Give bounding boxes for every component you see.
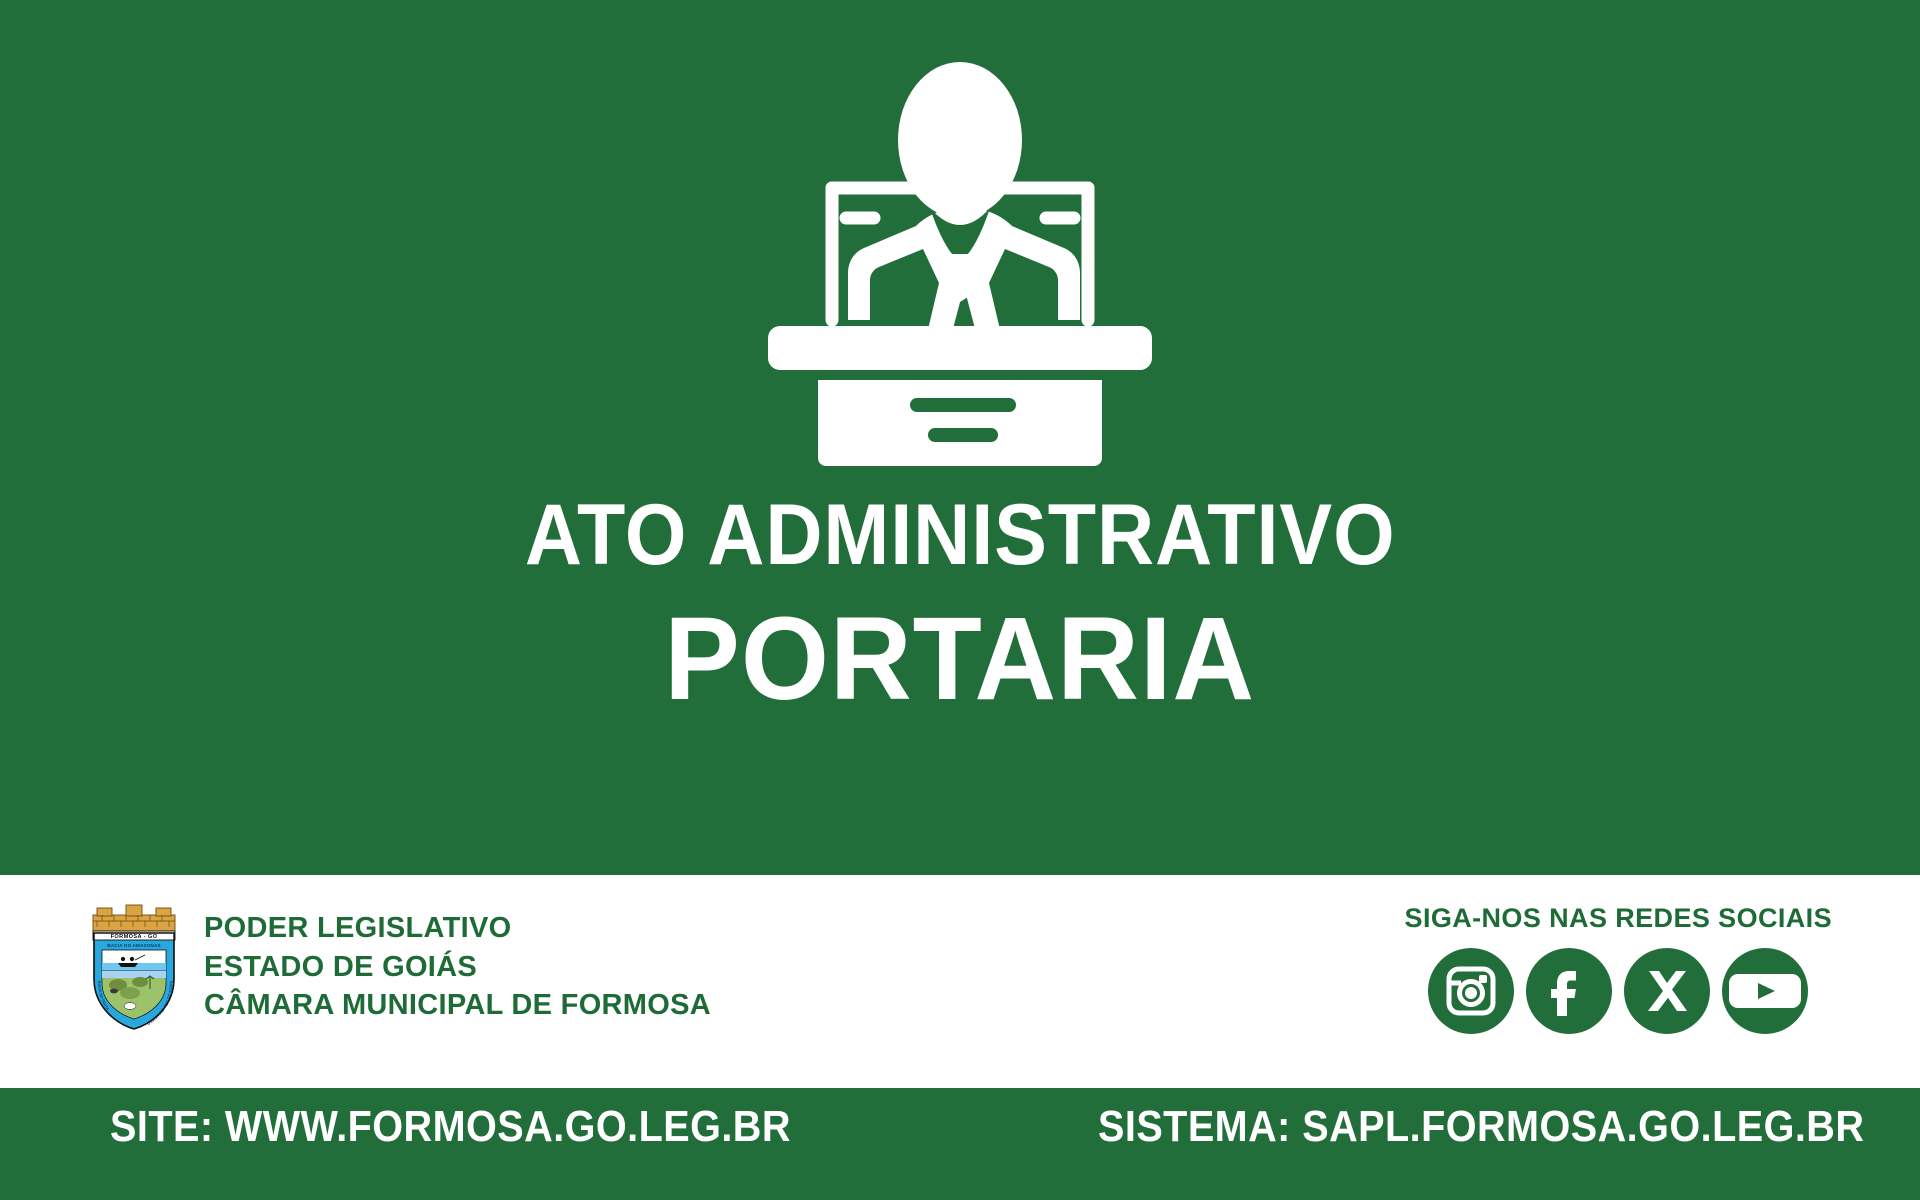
formosa-coat-of-arms: FORMOSA - GO BACIA DO AMAZONAS [88,903,180,1031]
brand-line-2: ESTADO DE GOIÁS [204,948,711,987]
youtube-icon[interactable] [1722,948,1808,1034]
instagram-glyph [1445,965,1497,1017]
brand-line-1: PODER LEGISLATIVO [204,909,711,948]
x-twitter-icon[interactable] [1624,948,1710,1034]
svg-text:BACIA DO AMAZONAS: BACIA DO AMAZONAS [107,943,161,948]
x-glyph [1641,965,1693,1017]
footer-system-url: SISTEMA: SAPL.FORMOSA.GO.LEG.BR [1098,1102,1864,1152]
social-block: SIGA-NOS NAS REDES SOCIAIS [1405,903,1832,1034]
poster-root: ATO ADMINISTRATIVO PORTARIA FORMOSA - GO [0,0,1920,1200]
speaker-podium-icon [760,48,1160,478]
footer-site-url: SITE: WWW.FORMOSA.GO.LEG.BR [110,1102,791,1152]
footer-bar: SITE: WWW.FORMOSA.GO.LEG.BR SISTEMA: SAP… [0,1088,1920,1200]
page-title: ATO ADMINISTRATIVO [525,492,1396,578]
svg-text:FORMOSA - GO: FORMOSA - GO [111,934,158,940]
branding-band: FORMOSA - GO BACIA DO AMAZONAS [0,875,1920,1088]
social-links-row [1428,948,1808,1034]
instagram-icon[interactable] [1428,948,1514,1034]
facebook-icon[interactable] [1526,948,1612,1034]
social-heading: SIGA-NOS NAS REDES SOCIAIS [1405,903,1832,934]
brand-lines: PODER LEGISLATIVO ESTADO DE GOIÁS CÂMARA… [204,909,711,1025]
brand-block: FORMOSA - GO BACIA DO AMAZONAS [88,903,711,1031]
facebook-glyph [1543,965,1595,1017]
brand-line-3: CÂMARA MUNICIPAL DE FORMOSA [204,986,711,1025]
youtube-glyph [1729,965,1801,1017]
page-subtitle: PORTARIA [665,600,1256,718]
hero-section: ATO ADMINISTRATIVO PORTARIA [0,0,1920,875]
